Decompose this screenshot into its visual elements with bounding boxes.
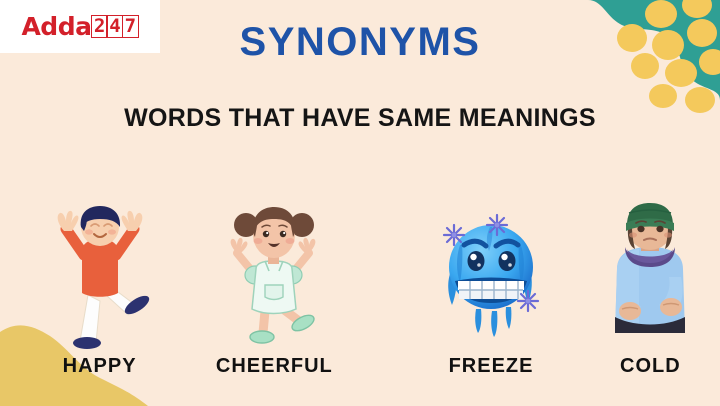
card-happy: HAPPY bbox=[20, 178, 179, 378]
freeze-emoji-illustration bbox=[432, 201, 550, 349]
card-cheerful: CHEERFUL bbox=[187, 178, 361, 378]
cheerful-girl-illustration bbox=[215, 201, 333, 349]
happy-boy-illustration bbox=[44, 201, 156, 349]
caption-freeze: FREEZE bbox=[449, 355, 534, 378]
caption-cold: COLD bbox=[620, 355, 681, 378]
caption-happy: HAPPY bbox=[63, 355, 137, 378]
synonym-cards: HAPPY bbox=[0, 178, 720, 378]
page-title: SYNONYMS bbox=[0, 20, 720, 65]
poster-canvas: Adda 2 4 7 SYNONYMS WORDS THAT HAVE SAME… bbox=[0, 0, 720, 406]
card-cold: COLD bbox=[581, 178, 720, 378]
cold-person-illustration bbox=[595, 201, 705, 349]
caption-cheerful: CHEERFUL bbox=[216, 355, 333, 378]
page-subtitle: WORDS THAT HAVE SAME MEANINGS bbox=[0, 104, 720, 133]
card-freeze: FREEZE bbox=[411, 178, 570, 378]
